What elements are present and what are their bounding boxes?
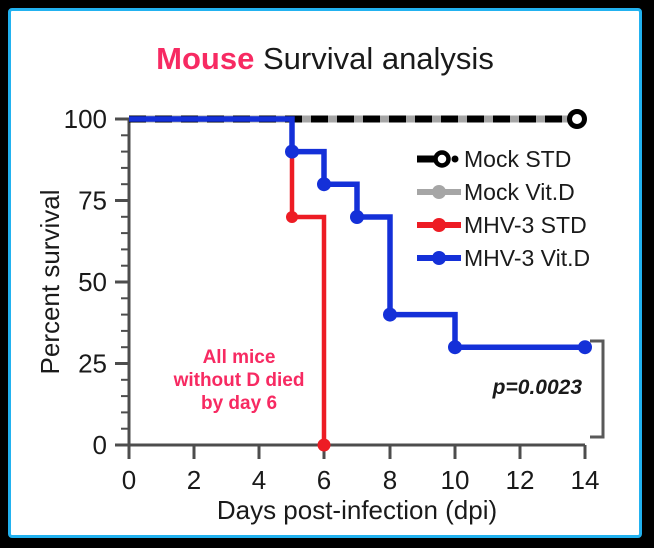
data-point-mhv3-vitd-d5: [285, 145, 299, 159]
legend-label-mhv3-std: MHV-3 STD: [464, 212, 587, 238]
legend-dash-dot-mock-std: [452, 156, 459, 163]
pvalue-bracket: [590, 341, 603, 437]
annotation-note-line-3: by day 6: [201, 393, 277, 414]
legend-item-mock-vitd[interactable]: Mock Vit.D: [417, 179, 575, 205]
legend-label-mhv3-vitd: MHV-3 Vit.D: [464, 245, 590, 271]
y-tick-labels: 100 75 50 25 0: [64, 104, 107, 460]
legend-marker-mhv3-vitd: [432, 251, 446, 265]
x-tick-label-6: 6: [317, 465, 331, 495]
y-tick-label-75: 75: [78, 186, 107, 216]
y-tick-label-100: 100: [64, 104, 107, 134]
legend-marker-mock-vitd: [432, 185, 446, 199]
x-tick-label-0: 0: [122, 465, 136, 495]
legend-item-mhv3-std[interactable]: MHV-3 STD: [417, 212, 587, 238]
annotation-note: All mice without D died by day 6: [173, 347, 305, 414]
y-axis-label: Percent survival: [35, 190, 65, 375]
legend: Mock STD Mock Vit.D MHV-3 STD: [417, 146, 590, 271]
data-point-mhv3-std-d6: [318, 439, 331, 452]
annotation-note-line-2: without D died: [173, 370, 305, 391]
legend-item-mhv3-vitd[interactable]: MHV-3 Vit.D: [417, 245, 590, 271]
data-point-mock-std-d14: [570, 112, 585, 127]
x-tick-label-2: 2: [187, 465, 201, 495]
legend-label-mock-std: Mock STD: [464, 146, 571, 172]
y-tick-label-50: 50: [78, 267, 107, 297]
data-point-mhv3-vitd-d6: [317, 177, 331, 191]
data-point-mhv3-vitd-d8: [383, 308, 397, 322]
data-point-mhv3-vitd-d10: [448, 340, 462, 354]
legend-marker-mock-std: [436, 153, 449, 166]
x-tick-label-8: 8: [383, 465, 397, 495]
legend-label-mock-vitd: Mock Vit.D: [464, 179, 575, 205]
x-tick-label-10: 10: [441, 465, 470, 495]
figure-frame: Mouse Survival analysis: [8, 8, 642, 538]
annotation-note-line-1: All mice: [203, 347, 276, 368]
x-tick-label-4: 4: [252, 465, 266, 495]
data-point-mhv3-vitd-d14: [578, 340, 592, 354]
legend-marker-mhv3-std: [432, 218, 446, 232]
data-point-mhv3-vitd-d7: [350, 210, 364, 224]
x-tick-labels: 0 2 4 6 8 10 12 14: [122, 465, 600, 495]
data-point-mhv3-std-d5: [286, 211, 298, 223]
x-axis-label: Days post-infection (dpi): [217, 495, 497, 525]
pvalue-label: p=0.0023: [492, 376, 583, 399]
x-tick-label-12: 12: [506, 465, 535, 495]
y-tick-label-25: 25: [78, 349, 107, 379]
x-tick-label-14: 14: [571, 465, 600, 495]
plot-area: Mouse Survival analysis: [11, 11, 639, 535]
survival-chart: 100 75 50 25 0 0 2 4 6 8 10 12 14 Days p…: [11, 11, 639, 535]
y-tick-label-0: 0: [93, 430, 107, 460]
legend-item-mock-std[interactable]: Mock STD: [417, 146, 571, 172]
x-axis-major-ticks: [129, 445, 585, 459]
